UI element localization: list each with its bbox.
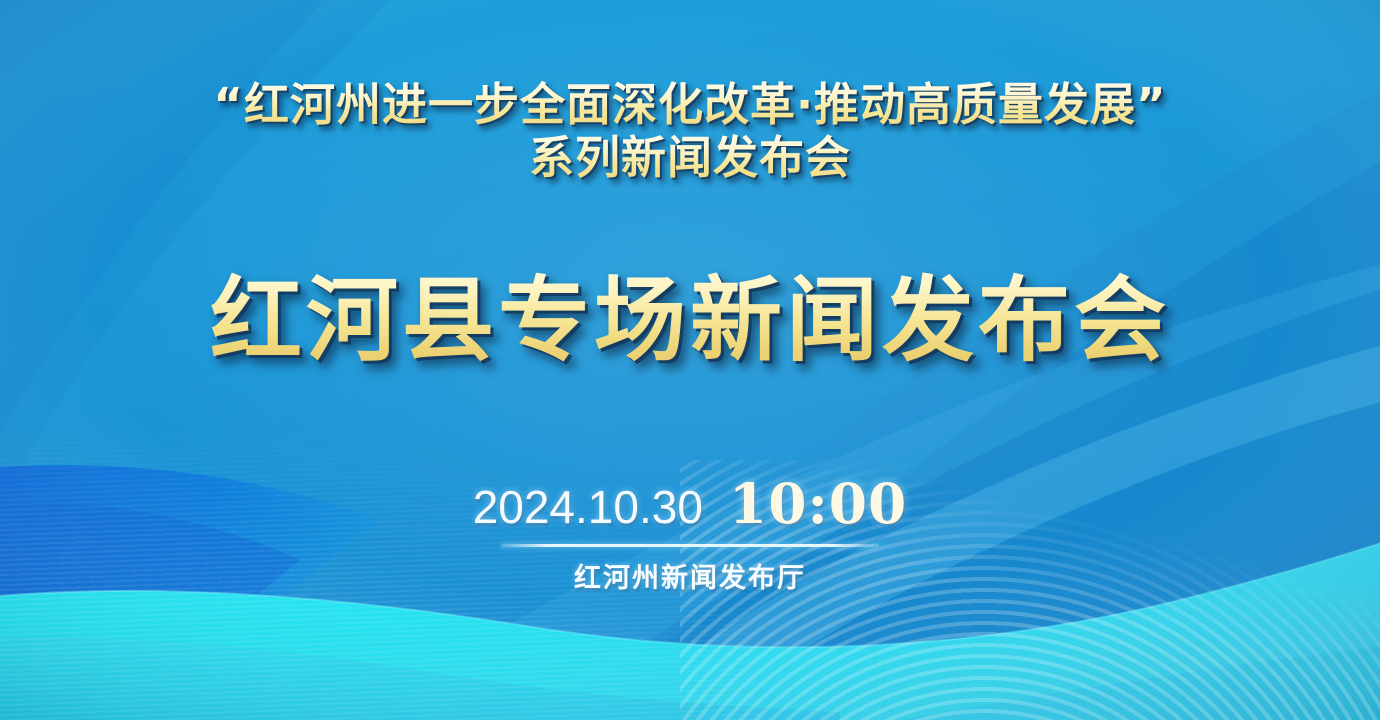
series-subtitle-line-2: 系列新闻发布会 <box>213 131 1166 184</box>
date-time-row: 2024.10.30 10:00 <box>459 471 922 542</box>
broadcast-title-card: “红河州进一步全面深化改革·推动高质量发展” 系列新闻发布会 红河县专场新闻发布… <box>0 0 1380 720</box>
page-title: 红河县专场新闻发布会 <box>210 246 1170 379</box>
event-schedule: 2024.10.30 10:00 红河州新闻发布厅 <box>459 471 922 595</box>
event-time: 10:00 <box>729 471 907 536</box>
event-venue: 红河州新闻发布厅 <box>459 556 922 595</box>
poster-content: “红河州进一步全面深化改革·推动高质量发展” 系列新闻发布会 红河县专场新闻发布… <box>0 0 1380 720</box>
series-subtitle-line-1: “红河州进一步全面深化改革·推动高质量发展” <box>213 78 1166 131</box>
event-date: 2024.10.30 <box>473 480 703 534</box>
series-subtitle: “红河州进一步全面深化改革·推动高质量发展” 系列新闻发布会 <box>213 78 1166 184</box>
divider-line <box>501 544 879 547</box>
